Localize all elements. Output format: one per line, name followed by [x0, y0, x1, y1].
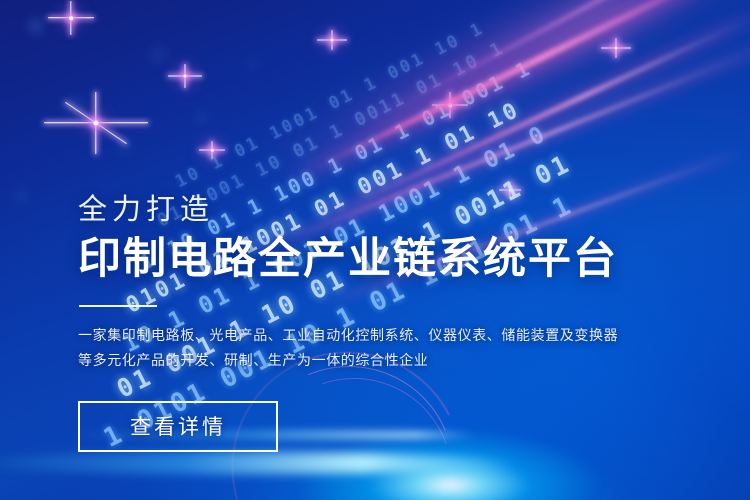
description: 一家集印制电路板、光电产品、工业自动化控制系统、仪器仪表、储能装置及变换器 等多…	[78, 323, 598, 373]
page-title: 印制电路全产业链系统平台	[78, 237, 598, 283]
view-details-button[interactable]: 查看详情	[78, 401, 278, 452]
hero-content: 全力打造 印制电路全产业链系统平台 一家集印制电路板、光电产品、工业自动化控制系…	[78, 196, 598, 452]
description-line-2: 等多元化产品的开发、研制、生产为一体的综合性企业	[78, 348, 598, 373]
eyebrow-text: 全力打造	[78, 196, 598, 225]
title-divider	[79, 305, 157, 307]
hero-banner: 10 1 01 1001 01 1 001 10 1 01 1001 10 01…	[0, 0, 750, 500]
description-line-1: 一家集印制电路板、光电产品、工业自动化控制系统、仪器仪表、储能装置及变换器	[78, 323, 598, 348]
